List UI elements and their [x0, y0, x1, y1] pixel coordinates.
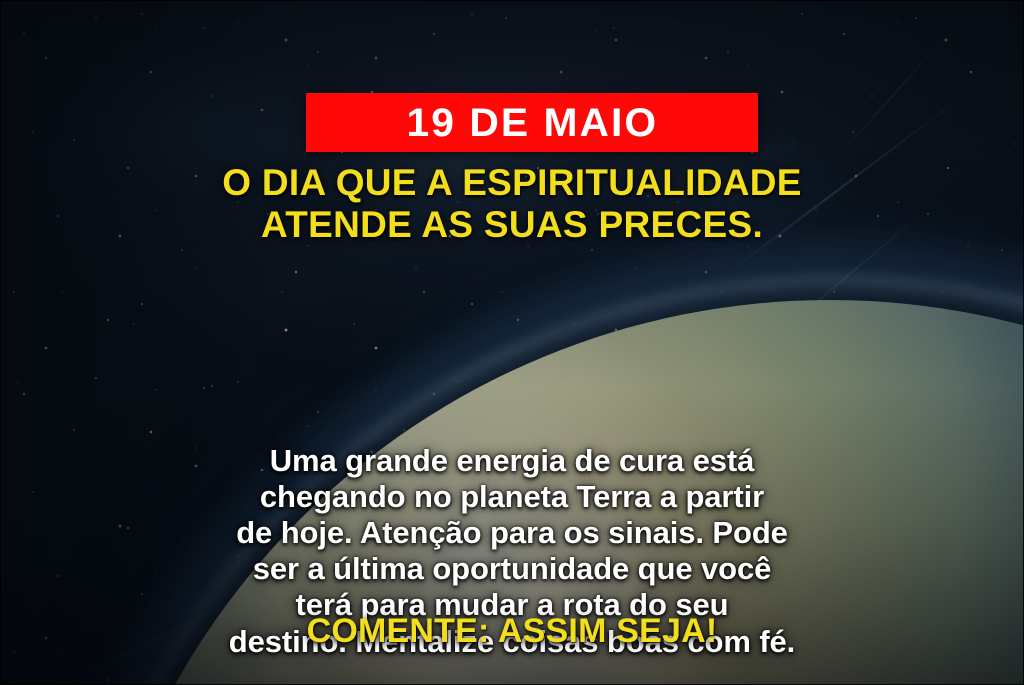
- headline-line-2: ATENDE AS SUAS PRECES.: [40, 204, 984, 246]
- date-banner-label: 19 DE MAIO: [406, 103, 658, 143]
- poster-canvas: 19 DE MAIO O DIA QUE A ESPIRITUALIDADE A…: [0, 0, 1024, 685]
- call-to-action-text: COMENTE: ASSIM SEJA!: [0, 613, 1024, 650]
- poster-content: 19 DE MAIO O DIA QUE A ESPIRITUALIDADE A…: [0, 0, 1024, 685]
- body-line-1: Uma grande energia de cura está: [24, 443, 1000, 479]
- body-line-3: de hoje. Atenção para os sinais. Pode: [24, 515, 1000, 551]
- body-line-2: chegando no planeta Terra a partir: [24, 479, 1000, 515]
- date-banner: 19 DE MAIO: [306, 93, 758, 152]
- headline-line-1: O DIA QUE A ESPIRITUALIDADE: [40, 162, 984, 204]
- headline: O DIA QUE A ESPIRITUALIDADE ATENDE AS SU…: [0, 162, 1024, 246]
- body-line-4: ser a última oportunidade que você: [24, 551, 1000, 587]
